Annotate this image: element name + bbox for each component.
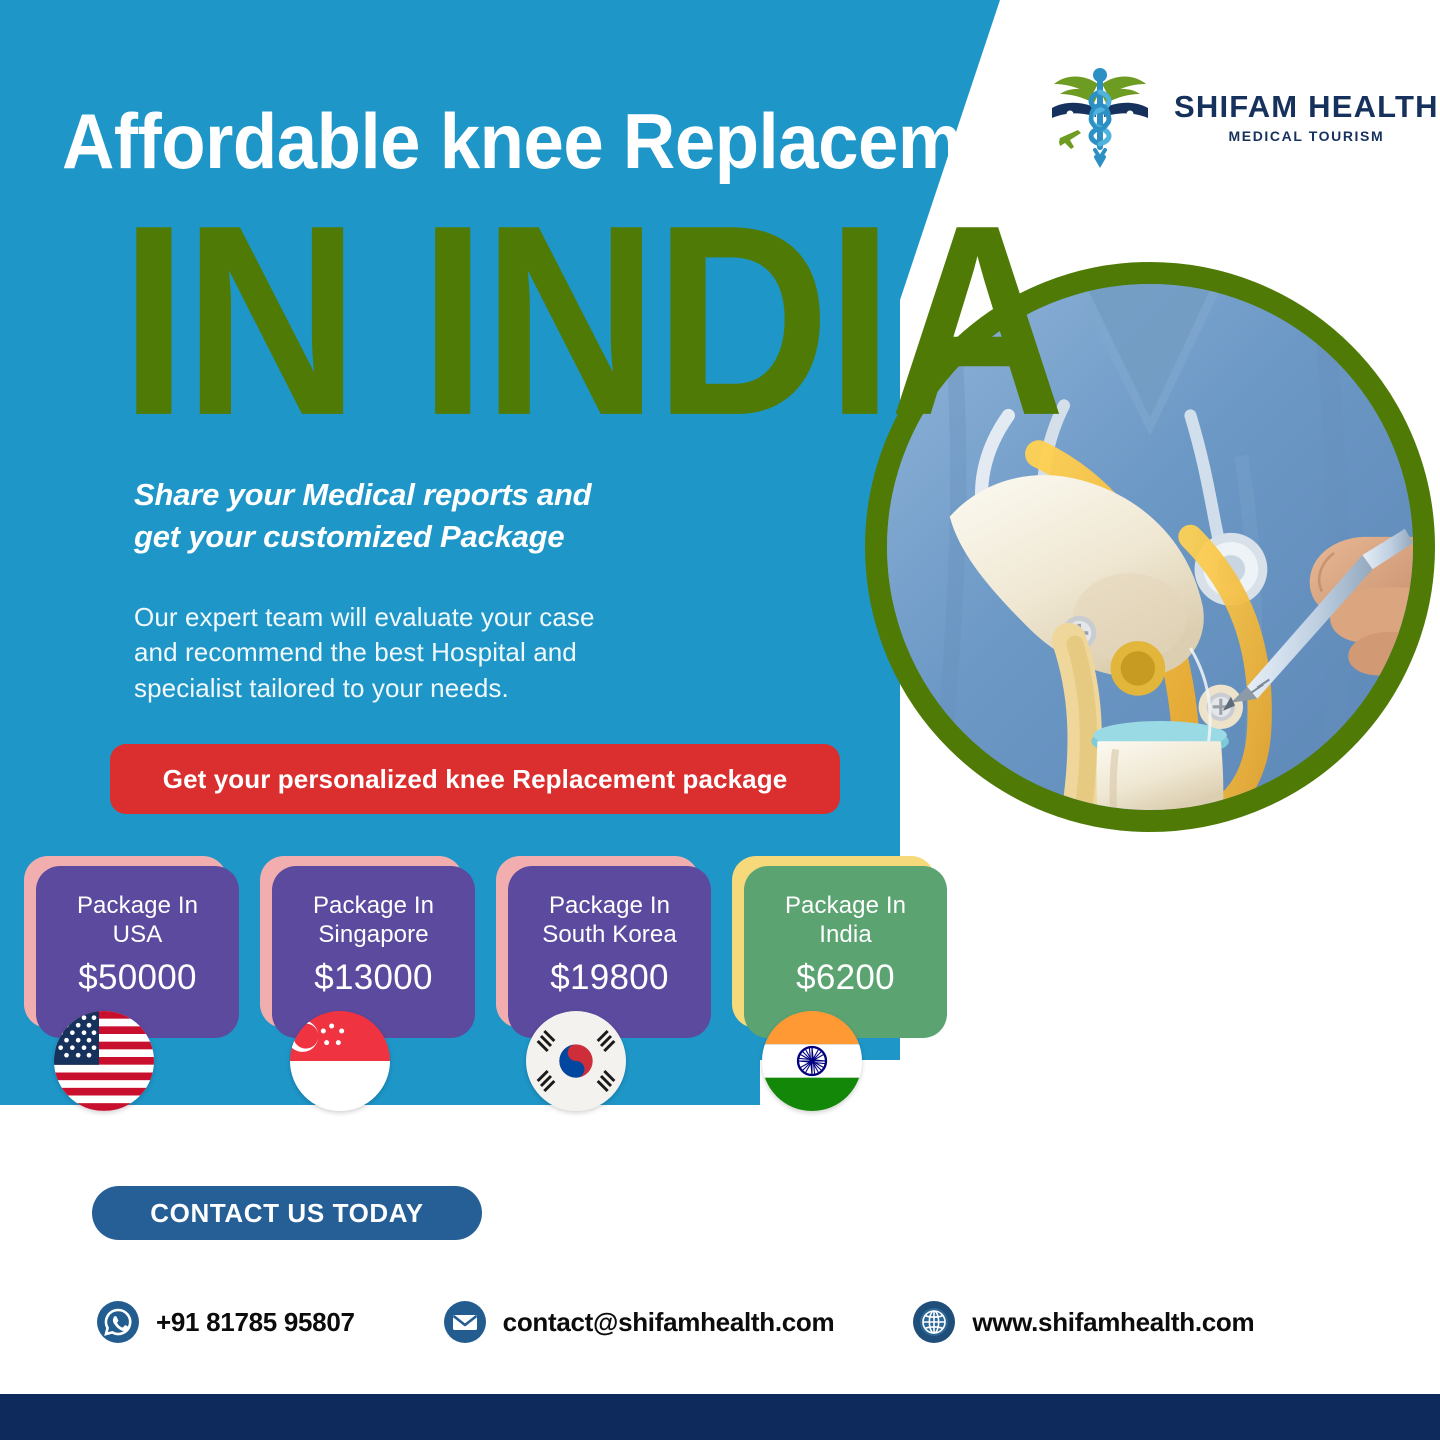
headline-line-2: IN INDIA xyxy=(120,185,1061,456)
email-icon xyxy=(443,1300,487,1344)
card-title: Package InSingapore xyxy=(313,892,434,950)
card-title: Package InIndia xyxy=(785,892,906,950)
package-card[interactable]: Package InUSA $50000 xyxy=(24,856,237,1036)
brand-tagline: MEDICAL TOURISM xyxy=(1229,129,1385,143)
contact-phone[interactable]: +91 81785 95807 xyxy=(96,1300,355,1344)
brand-logo[interactable]: SHIFAM HEALTH MEDICAL TOURISM xyxy=(1040,62,1439,172)
card-face: Package InIndia $6200 xyxy=(744,866,947,1038)
subheadline: Share your Medical reports and get your … xyxy=(134,474,591,558)
poster-canvas: SHIFAM HEALTH MEDICAL TOURISM Affordable… xyxy=(0,0,1440,1440)
contact-us-today-button[interactable]: CONTACT US TODAY xyxy=(92,1186,482,1240)
globe-icon xyxy=(912,1300,956,1344)
caduceus-wings-airplane-icon xyxy=(1040,62,1160,172)
package-card-list: Package InUSA $50000 xyxy=(24,856,945,1036)
footer-bar xyxy=(0,1394,1440,1440)
singapore-flag-icon xyxy=(290,1011,390,1111)
package-card-featured[interactable]: Package InIndia $6200 xyxy=(732,856,945,1036)
card-price: $19800 xyxy=(550,958,669,998)
brand-name: SHIFAM HEALTH xyxy=(1174,91,1439,122)
package-card[interactable]: Package InSouth Korea $19800 xyxy=(496,856,709,1036)
india-flag-icon xyxy=(762,1011,862,1111)
usa-flag-icon xyxy=(54,1011,154,1111)
card-price: $13000 xyxy=(314,958,433,998)
phone-number: +91 81785 95807 xyxy=(156,1307,355,1338)
card-face: Package InSouth Korea $19800 xyxy=(508,866,711,1038)
body-paragraph: Our expert team will evaluate your case … xyxy=(134,600,595,706)
card-title: Package InSouth Korea xyxy=(542,892,677,950)
card-title: Package InUSA xyxy=(77,892,198,950)
contact-website[interactable]: www.shifamhealth.com xyxy=(912,1300,1254,1344)
get-package-button[interactable]: Get your personalized knee Replacement p… xyxy=(110,744,840,814)
contact-details-bar: +91 81785 95807 contact@shifamhealth.com xyxy=(0,1300,1440,1344)
email-address: contact@shifamhealth.com xyxy=(503,1307,835,1338)
card-price: $50000 xyxy=(78,958,197,998)
contact-email[interactable]: contact@shifamhealth.com xyxy=(443,1300,835,1344)
card-face: Package InSingapore $13000 xyxy=(272,866,475,1038)
website-url: www.shifamhealth.com xyxy=(972,1307,1254,1338)
package-card[interactable]: Package InSingapore $13000 xyxy=(260,856,473,1036)
whatsapp-icon xyxy=(96,1300,140,1344)
card-price: $6200 xyxy=(796,958,895,998)
south-korea-flag-icon xyxy=(526,1011,626,1111)
card-face: Package InUSA $50000 xyxy=(36,866,239,1038)
